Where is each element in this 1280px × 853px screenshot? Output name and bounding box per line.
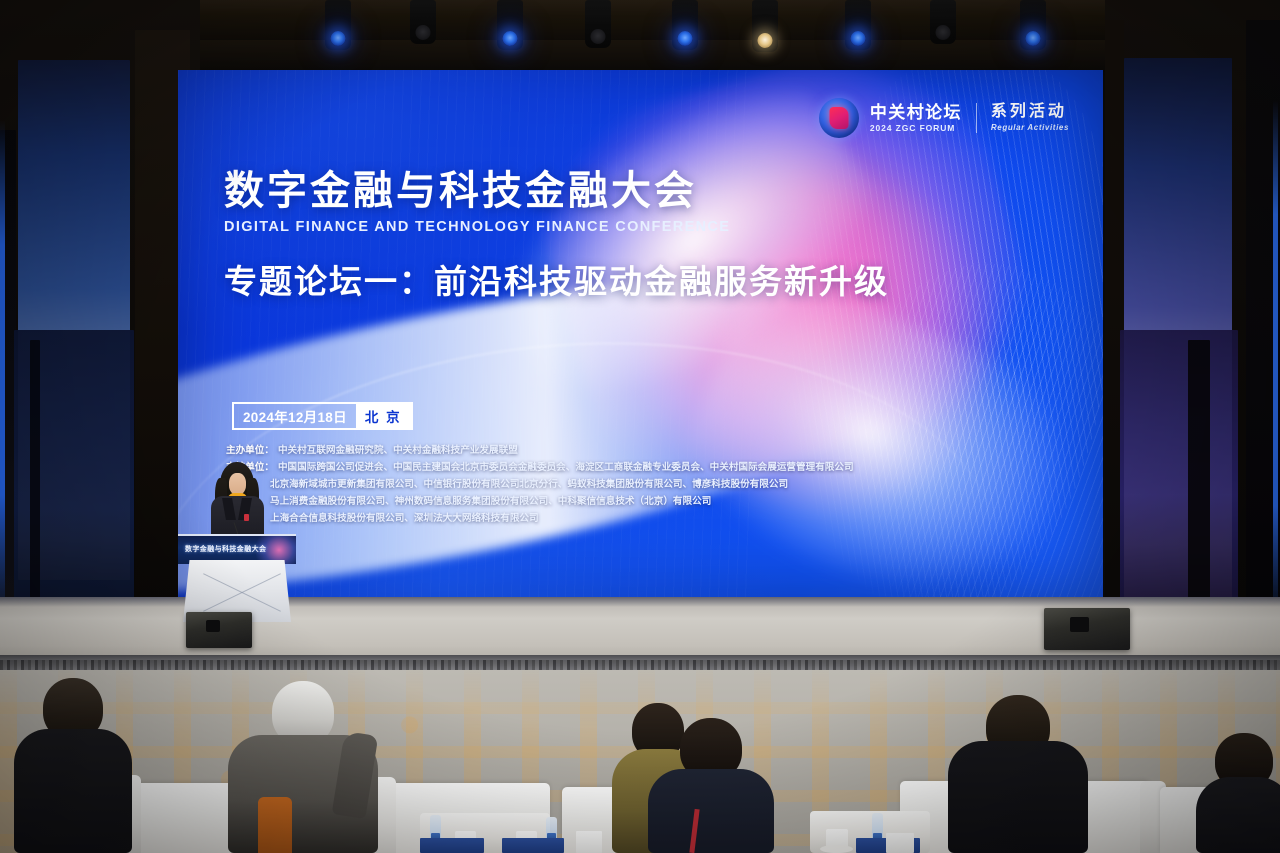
light-lens-icon	[1026, 31, 1041, 46]
truss-light	[325, 0, 351, 50]
sponsor-line: 马上消费金融股份有限公司、神州数码信息服务集团股份有限公司、中科聚信信息技术（北…	[226, 493, 886, 510]
light-lens-icon	[678, 31, 693, 46]
event-date: 2024年12月18日	[234, 404, 356, 428]
audience-person	[648, 718, 774, 853]
zgc-activity-cn: 系列活动	[991, 104, 1069, 120]
left-wall	[0, 0, 200, 640]
truss-light	[1020, 0, 1046, 50]
sponsor-line: 北京海新域城市更新集团有限公司、中信银行股份有限公司北京分行、蚂蚁科技集团股份有…	[226, 476, 886, 493]
audience-person	[14, 678, 132, 853]
conference-title-cn: 数字金融与科技金融大会	[224, 170, 889, 212]
sponsor-list: 主办单位：中关村互联网金融研究院、中关村金融科技产业发展联盟 支持单位：中国国际…	[226, 442, 886, 527]
podium-banner-text: 数字金融与科技金融大会	[185, 544, 266, 554]
speaker-badge	[244, 514, 249, 521]
speaker-person	[208, 462, 266, 540]
led-screen: 中关村论坛 2024 ZGC FORUM 系列活动 Regular Activi…	[178, 70, 1103, 597]
zgc-activity-block: 系列活动 Regular Activities	[991, 104, 1069, 132]
sponsor-line: 支持单位：中国国际跨国公司促进会、中国民主建国会北京市委员会金融委员会、海淀区工…	[226, 459, 886, 476]
person-torso	[14, 729, 132, 853]
name-card	[886, 833, 914, 853]
stage-monitor-speaker	[1044, 608, 1130, 650]
truss-light	[752, 0, 778, 52]
sponsor-line: 上海合合信息科技股份有限公司、深圳法大大网络科技有限公司	[226, 510, 886, 527]
zgc-name-block: 中关村论坛 2024 ZGC FORUM	[870, 104, 962, 133]
name-card	[502, 838, 564, 853]
cup-saucer	[820, 845, 853, 853]
speaker-face	[229, 473, 246, 495]
screen-content: 中关村论坛 2024 ZGC FORUM 系列活动 Regular Activi…	[178, 70, 1103, 597]
audience-area	[0, 660, 1280, 853]
person-torso	[948, 741, 1088, 853]
audience-person	[948, 695, 1088, 853]
sponsor-text: 中国国际跨国公司促进会、中国民主建国会北京市委员会金融委员会、海淀区工商联金融专…	[278, 462, 854, 473]
truss-light	[672, 0, 698, 50]
sponsor-text: 中关村互联网金融研究院、中关村金融科技产业发展联盟	[278, 445, 518, 456]
podium: 数字金融与科技金融大会	[178, 534, 296, 622]
person-torso	[1196, 777, 1280, 853]
forum-subtitle-cn: 专题论坛一：前沿科技驱动金融服务新升级	[224, 255, 889, 303]
light-lens-icon	[503, 31, 518, 46]
wall-panel-lower	[1120, 330, 1238, 630]
truss-light	[497, 0, 523, 50]
light-lens-icon	[851, 31, 866, 46]
truss-light	[930, 0, 956, 44]
person-scarf	[258, 797, 292, 853]
sponsor-text: 马上消费金融股份有限公司、神州数码信息服务集团股份有限公司、中科聚信信息技术（北…	[270, 496, 711, 507]
light-lens-icon	[416, 25, 431, 40]
light-lens-icon	[936, 25, 951, 40]
light-lens-icon	[758, 33, 773, 48]
stage-monitor-speaker	[186, 612, 252, 648]
truss-light	[410, 0, 436, 44]
sponsor-line: 主办单位：中关村互联网金融研究院、中关村金融科技产业发展联盟	[226, 442, 886, 459]
wall-panel-seam	[30, 340, 40, 630]
audience-person	[1196, 733, 1280, 853]
podium-group: 数字金融与科技金融大会	[178, 462, 296, 622]
date-location-badge: 2024年12月18日 北 京	[232, 402, 413, 430]
wall-edge-glow	[1273, 100, 1278, 620]
sponsor-label: 主办单位：	[226, 445, 274, 456]
right-wall	[1105, 0, 1280, 640]
name-card	[576, 831, 602, 853]
light-lens-icon	[591, 29, 606, 44]
light-lens-icon	[331, 31, 346, 46]
sponsor-text: 上海合合信息科技股份有限公司、深圳法大大网络科技有限公司	[270, 513, 539, 524]
name-card	[420, 838, 484, 853]
wall-edge-glow	[0, 120, 5, 620]
sponsor-text: 北京海新域城市更新集团有限公司、中信银行股份有限公司北京分行、蚂蚁科技集团股份有…	[270, 479, 788, 490]
logo-divider	[976, 103, 977, 133]
wall-panel-seam	[1188, 340, 1210, 630]
zgc-logo-en: 2024 ZGC FORUM	[870, 124, 962, 133]
podium-banner: 数字金融与科技金融大会	[178, 534, 296, 564]
zgc-activity-en: Regular Activities	[991, 124, 1069, 132]
person-torso	[648, 769, 774, 853]
conference-title-en: DIGITAL FINANCE AND TECHNOLOGY FINANCE C…	[224, 219, 889, 235]
truss-light	[585, 0, 611, 48]
conference-title-block: 数字金融与科技金融大会 DIGITAL FINANCE AND TECHNOLO…	[224, 170, 889, 303]
zgc-forum-logo: 中关村论坛 2024 ZGC FORUM 系列活动 Regular Activi…	[819, 98, 1069, 138]
audience-person	[228, 681, 378, 853]
zgc-logo-cn: 中关村论坛	[870, 104, 962, 121]
conference-stage-photo: 中关村论坛 2024 ZGC FORUM 系列活动 Regular Activi…	[0, 0, 1280, 853]
truss-light	[845, 0, 871, 50]
event-city: 北 京	[356, 404, 411, 428]
zgc-emblem-icon	[819, 98, 859, 138]
